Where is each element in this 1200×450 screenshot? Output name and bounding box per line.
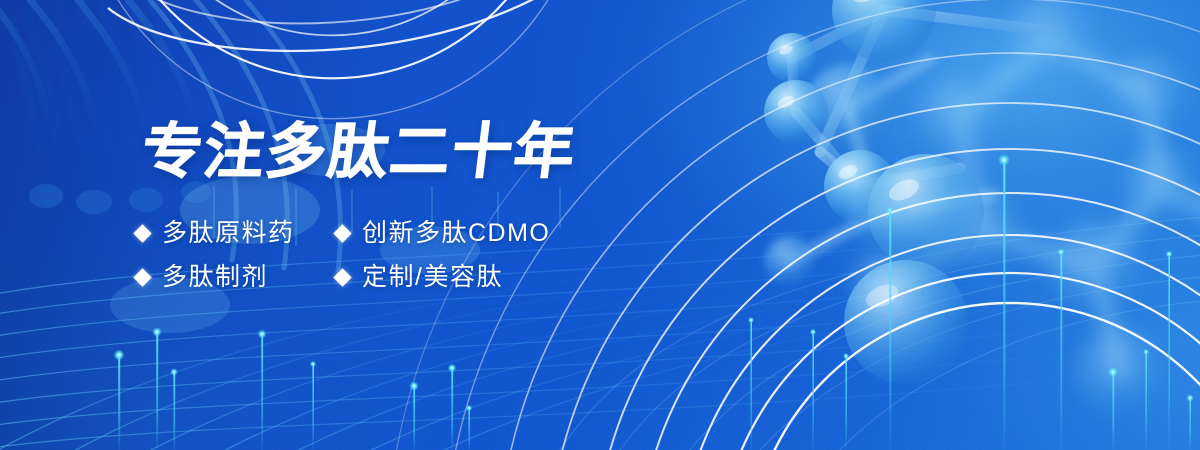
feature-item-4[interactable]: 定制/美容肽 [336, 262, 550, 292]
page-title: 专注多肽二十年 [138, 118, 580, 186]
diamond-bullet-icon [333, 268, 351, 286]
promo-banner: 专注多肽二十年 多肽原料药 创新多肽CDMO 多肽制剂 定制/美容肽 [0, 0, 1200, 450]
mesh-grid-right-graphic [560, 214, 1200, 450]
molecule-mid-cluster [764, 60, 992, 288]
feature-item-label: 多肽原料药 [162, 218, 295, 248]
headline-block: 专注多肽二十年 [138, 118, 572, 186]
feature-item-label: 创新多肽CDMO [362, 218, 550, 248]
feature-list: 多肽原料药 创新多肽CDMO 多肽制剂 定制/美容肽 [136, 218, 550, 292]
feature-item-1[interactable]: 多肽原料药 [136, 218, 336, 248]
arcs-top-left-graphic [96, 0, 570, 119]
feature-item-label: 多肽制剂 [162, 262, 268, 292]
arcs-top-left-visible [108, 0, 560, 51]
diamond-bullet-icon [133, 224, 151, 242]
feature-item-2[interactable]: 创新多肽CDMO [336, 218, 550, 248]
diamond-bullet-icon [133, 268, 151, 286]
feature-item-3[interactable]: 多肽制剂 [136, 262, 336, 292]
pin-markers-graphic [114, 154, 1194, 450]
molecule-foreground-cluster [764, 0, 1058, 270]
molecule-background-lattice [850, 0, 1200, 416]
diamond-bullet-icon [333, 224, 351, 242]
feature-item-label: 定制/美容肽 [362, 262, 503, 292]
molecule-lower-sphere [844, 260, 968, 384]
